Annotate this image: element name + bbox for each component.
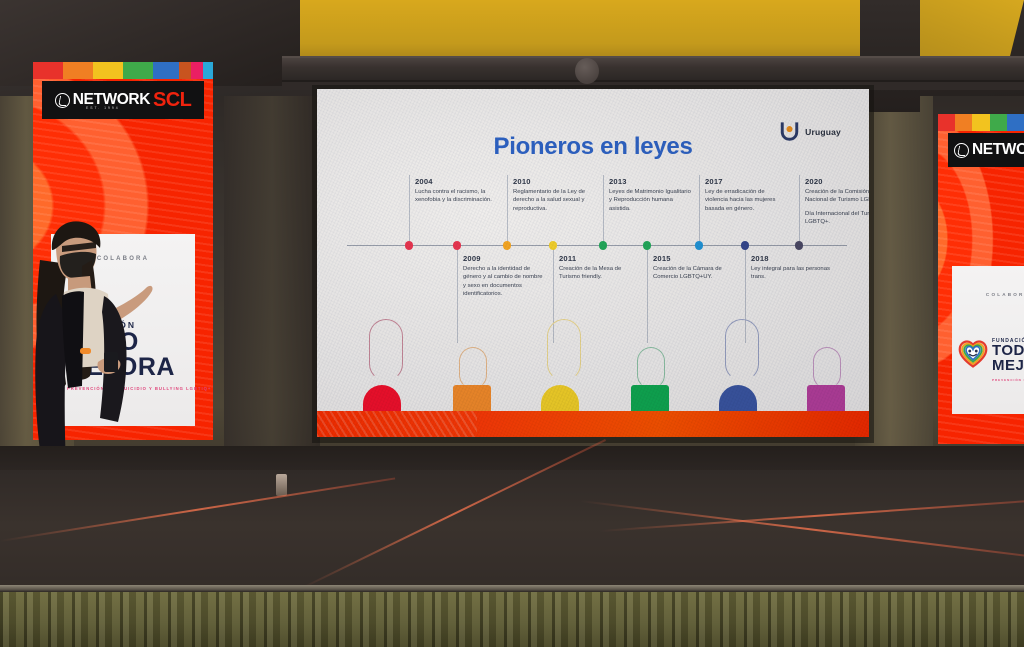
timeline-entry: 2004Lucha contra el racismo, la xenofobi… bbox=[415, 177, 499, 205]
ceiling-panel-yellow bbox=[300, 0, 900, 62]
timeline-axis bbox=[347, 245, 847, 246]
timeline-tick bbox=[699, 175, 700, 245]
network-circle-logo-icon bbox=[55, 93, 70, 108]
timeline-year: 2010 bbox=[513, 177, 597, 186]
timeline-year: 2015 bbox=[653, 254, 737, 263]
rainbow-heart-smile-logo-icon bbox=[958, 340, 988, 368]
timeline-year: 2017 bbox=[705, 177, 789, 186]
timeline-dot bbox=[795, 241, 804, 250]
decorative-arc bbox=[813, 347, 841, 389]
timeline-description: Derecho a la identidad de género y al ca… bbox=[463, 265, 547, 299]
uruguay-logo-label: Uruguay bbox=[805, 127, 841, 137]
timeline-year: 2018 bbox=[751, 254, 835, 263]
decorative-arc bbox=[637, 347, 665, 389]
stage-skirt bbox=[0, 592, 1024, 647]
stage-monitor bbox=[276, 474, 287, 496]
timeline-description: Leyes de Matrimonio Igualitario y Reprod… bbox=[609, 188, 693, 214]
brand-subtitle: EST. 1994 bbox=[86, 106, 120, 110]
timeline-entry: 2020Creación de la Comisión Nacional de … bbox=[805, 177, 869, 227]
timeline-dot bbox=[599, 241, 608, 250]
timeline-dot bbox=[643, 241, 652, 250]
timeline-entry: 2011Creación de la Mesa de Turismo frien… bbox=[559, 254, 643, 282]
foundation-tagline: PREVENCIÓN DEL SUICIDIO bbox=[992, 378, 1024, 382]
uruguay-sun-logo-icon bbox=[780, 122, 799, 141]
timeline-description: Ley de erradicación de violencia hacia l… bbox=[705, 188, 789, 214]
timeline-entry: 2010Reglamentario de la Ley de derecho a… bbox=[513, 177, 597, 213]
timeline-entry: 2015Creación de la Cámara de Comercio LG… bbox=[653, 254, 737, 282]
timeline-dot bbox=[695, 241, 704, 250]
timeline-dot bbox=[453, 241, 462, 250]
photo-scene: NETWORK SCL EST. 1994 COLABORA FUNDACIÓN… bbox=[0, 0, 1024, 647]
timeline-tick bbox=[457, 247, 458, 343]
stage-floor bbox=[0, 470, 1024, 592]
uruguay-logo: Uruguay bbox=[780, 122, 841, 141]
decorative-arc bbox=[725, 319, 759, 381]
timeline-description-secondary: Día Internacional del Turismo LGBTQ+. bbox=[805, 210, 869, 227]
timeline-dot bbox=[503, 241, 512, 250]
timeline-tick bbox=[647, 247, 648, 343]
collaborator-label: COLABORA bbox=[952, 292, 1024, 297]
network-circle-logo-icon bbox=[954, 143, 969, 158]
timeline-year: 2020 bbox=[805, 177, 869, 186]
foundation-name-line2: MEJORA bbox=[992, 359, 1024, 373]
stage-riser bbox=[0, 446, 1024, 472]
timeline-tick bbox=[507, 175, 508, 245]
decorative-arc bbox=[369, 319, 403, 381]
decorative-arc bbox=[547, 319, 581, 381]
timeline-tick bbox=[799, 175, 800, 245]
decorative-arc bbox=[459, 347, 487, 389]
brand-suffix: SCL bbox=[153, 90, 191, 110]
timeline-description: Ley integral para las personas trans. bbox=[751, 265, 835, 282]
timeline-entry: 2013Leyes de Matrimonio Igualitario y Re… bbox=[609, 177, 693, 213]
timeline-year: 2013 bbox=[609, 177, 693, 186]
timeline-year: 2011 bbox=[559, 254, 643, 263]
projected-slide: Pioneros en leyes Uruguay 2004Lucha cont… bbox=[317, 89, 869, 437]
banner-right-card: COLABORA FUNDACIÓN TODO MEJORA PREVENCIÓ… bbox=[952, 266, 1024, 414]
timeline-description: Creación de la Mesa de Turismo friendly. bbox=[559, 265, 643, 282]
stage-edge bbox=[0, 585, 1024, 592]
slide-content: Pioneros en leyes Uruguay 2004Lucha cont… bbox=[317, 89, 869, 437]
timeline-description: Reglamentario de la Ley de derecho a la … bbox=[513, 188, 597, 214]
timeline-tick bbox=[409, 175, 410, 245]
network-scl-logo-plate-left: NETWORK SCL EST. 1994 bbox=[42, 81, 204, 119]
ceiling-cornice bbox=[282, 56, 1024, 82]
banner-right: NETWORK COLABORA FUNDACIÓN TODO MEJORA P… bbox=[938, 114, 1024, 444]
timeline-entry: 2018Ley integral para las personas trans… bbox=[751, 254, 835, 282]
wall-pillar-mid bbox=[224, 90, 320, 490]
timeline-dot bbox=[741, 241, 750, 250]
timeline-description: Creación de la Cámara de Comercio LGBTQ+… bbox=[653, 265, 737, 282]
timeline-dot bbox=[549, 241, 558, 250]
timeline-entry: 2009Derecho a la identidad de género y a… bbox=[463, 254, 547, 299]
timeline-description: Creación de la Comisión Nacional de Turi… bbox=[805, 188, 869, 205]
network-scl-logo-plate-right: NETWORK bbox=[948, 133, 1024, 167]
timeline-entry: 2017Ley de erradicación de violencia hac… bbox=[705, 177, 789, 213]
timeline-tick bbox=[603, 175, 604, 245]
rainbow-strip-right bbox=[938, 114, 1024, 131]
timeline-year: 2004 bbox=[415, 177, 499, 186]
timeline-year: 2009 bbox=[463, 254, 547, 263]
slide-bottom-band bbox=[317, 411, 869, 437]
timeline-dot bbox=[405, 241, 414, 250]
timeline-description: Lucha contra el racismo, la xenofobia y … bbox=[415, 188, 499, 205]
rainbow-swatches-left bbox=[179, 62, 213, 79]
ceiling-speaker-icon bbox=[575, 58, 599, 84]
brand-name: NETWORK bbox=[972, 142, 1024, 158]
